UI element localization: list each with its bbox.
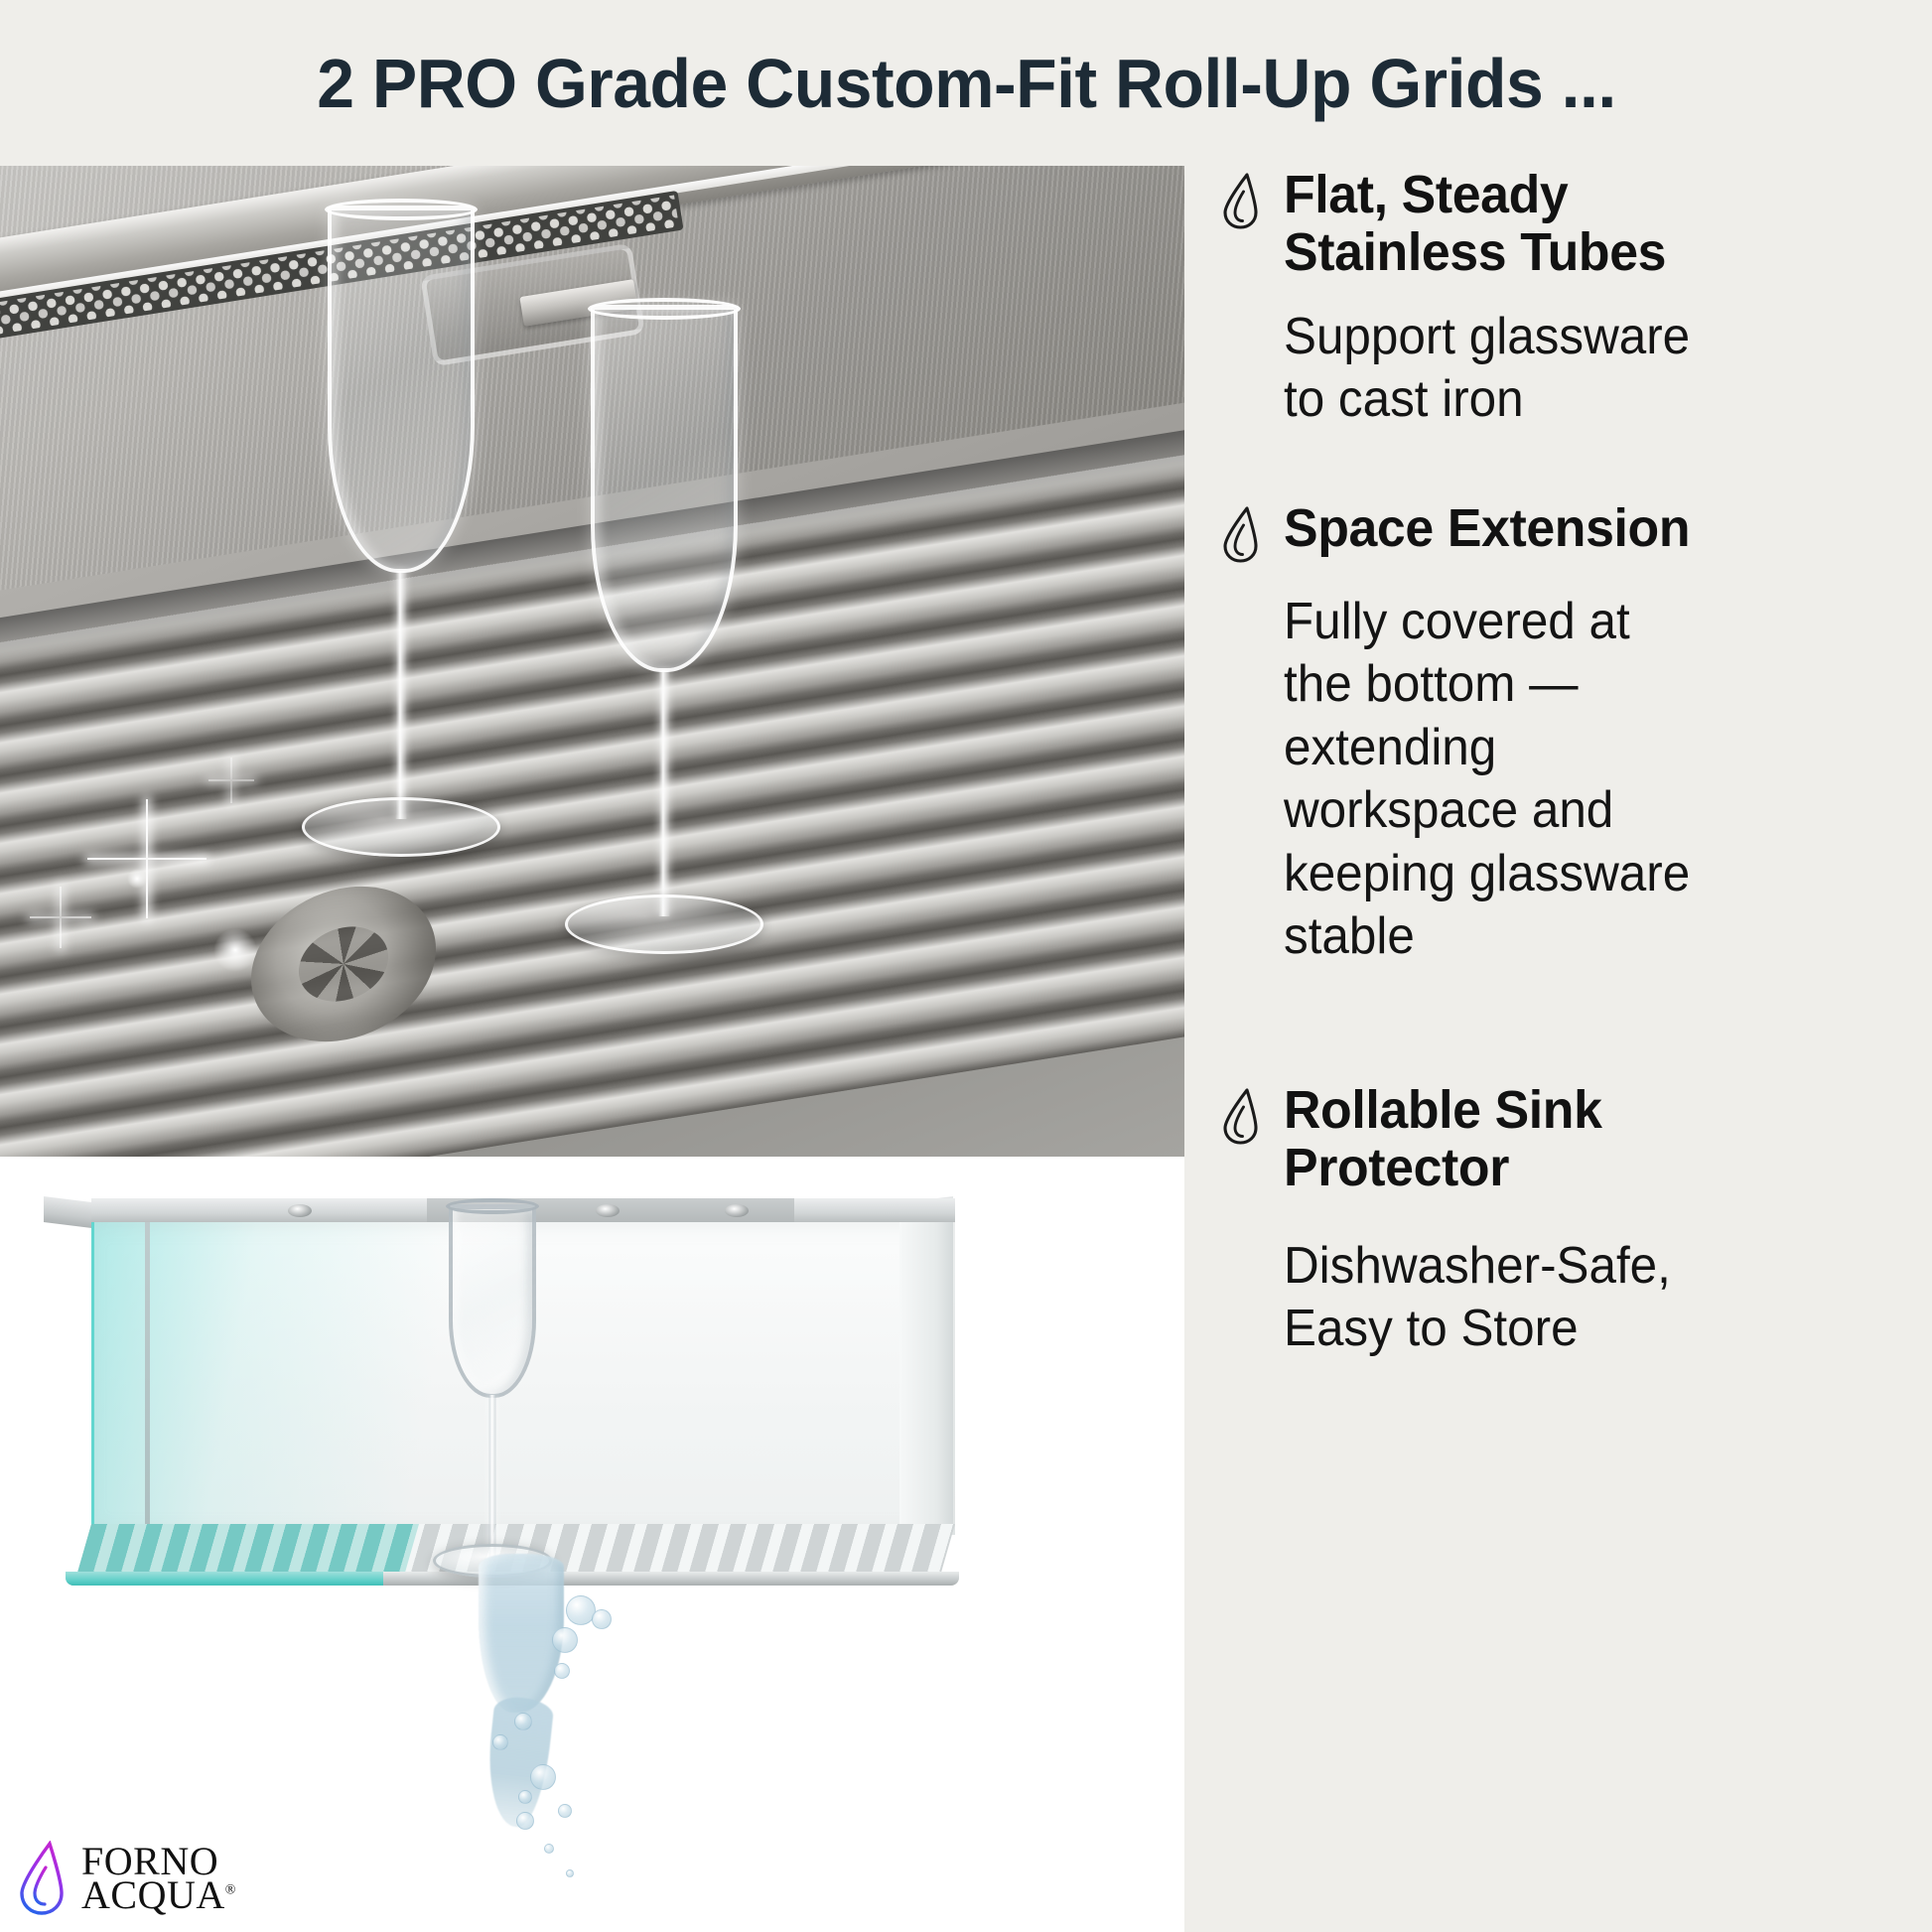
feature-block-flat-steady-stainless-tubes: Flat, Steady Stainless Tubes Support gla… xyxy=(1220,166,1905,432)
flute-foot xyxy=(565,895,763,954)
water-drop-icon xyxy=(1220,1087,1264,1145)
water-droplet xyxy=(552,1627,578,1653)
header-bar: 2 PRO Grade Custom-Fit Roll-Up Grids ... xyxy=(0,0,1932,166)
feature-description: Fully covered at the bottom — extending … xyxy=(1284,591,1874,969)
water-splash xyxy=(427,1554,725,1881)
flute-bowl xyxy=(328,206,475,573)
flute-rim xyxy=(446,1198,539,1214)
page-title: 2 PRO Grade Custom-Fit Roll-Up Grids ... xyxy=(317,44,1616,123)
infographic-page: 2 PRO Grade Custom-Fit Roll-Up Grids ... xyxy=(0,0,1932,1932)
brand-wordmark: FORNO ACQUA® xyxy=(81,1845,236,1913)
logo-line-acqua: ACQUA® xyxy=(81,1878,236,1912)
feature-title: Flat, Steady Stainless Tubes xyxy=(1284,166,1666,282)
feature-description: Dishwasher-Safe, Easy to Store xyxy=(1284,1235,1874,1361)
faucet-hole xyxy=(596,1204,620,1217)
flute-foot xyxy=(302,797,500,857)
feature-title: Rollable Sink Protector xyxy=(1284,1081,1602,1197)
flute-stem xyxy=(489,1395,496,1562)
flute-rim xyxy=(588,298,741,320)
faucet-hole xyxy=(725,1204,749,1217)
champagne-flute-left xyxy=(328,206,475,900)
flute-stem xyxy=(396,571,407,819)
water-droplet xyxy=(544,1844,554,1854)
flute-bowl xyxy=(449,1204,536,1398)
flute-rim xyxy=(325,199,478,220)
champagne-flute-right xyxy=(591,305,738,1000)
water-droplet xyxy=(554,1663,570,1679)
champagne-flute-center xyxy=(449,1204,536,1591)
water-droplet xyxy=(592,1609,612,1629)
brand-logo: FORNO ACQUA® xyxy=(16,1841,236,1916)
feature-description: Support glassware to cast iron xyxy=(1284,306,1874,432)
roll-up-grid-teal-section xyxy=(76,1524,419,1576)
water-drop-icon xyxy=(1220,172,1264,229)
water-droplet xyxy=(516,1812,534,1830)
glow-dot xyxy=(127,869,147,889)
sink-inner-corner xyxy=(145,1222,150,1532)
water-stream xyxy=(479,1554,564,1713)
water-droplet xyxy=(530,1764,556,1790)
features-panel: Flat, Steady Stainless Tubes Support gla… xyxy=(1184,166,1932,1932)
feature-block-rollable-sink-protector: Rollable Sink Protector Dishwasher-Safe,… xyxy=(1220,1081,1905,1361)
water-droplet xyxy=(514,1713,532,1730)
grid-front-lip-teal xyxy=(66,1572,383,1586)
water-drop-icon xyxy=(1220,505,1264,563)
water-droplet xyxy=(566,1869,574,1877)
stainless-sink-with-roll-up-grid-photo xyxy=(0,166,1184,1157)
feature-block-space-extension: Space Extension Fully covered at the bot… xyxy=(1220,499,1905,969)
water-droplet xyxy=(492,1734,508,1750)
registered-mark: ® xyxy=(225,1883,236,1898)
feature-header: Rollable Sink Protector xyxy=(1220,1081,1905,1197)
faucet-hole xyxy=(288,1204,312,1217)
water-droplet xyxy=(558,1804,572,1818)
flute-bowl xyxy=(591,305,738,672)
sink-right-wall xyxy=(899,1222,953,1532)
water-droplet xyxy=(518,1790,532,1804)
feature-header: Flat, Steady Stainless Tubes xyxy=(1220,166,1905,282)
water-drop-logo-icon xyxy=(16,1841,71,1916)
feature-header: Space Extension xyxy=(1220,499,1905,563)
glow-dot xyxy=(213,928,257,972)
flute-stem xyxy=(659,670,670,916)
feature-title: Space Extension xyxy=(1284,499,1690,557)
sink-protector-render xyxy=(0,1157,1184,1932)
media-column: FORNO ACQUA® xyxy=(0,166,1184,1932)
